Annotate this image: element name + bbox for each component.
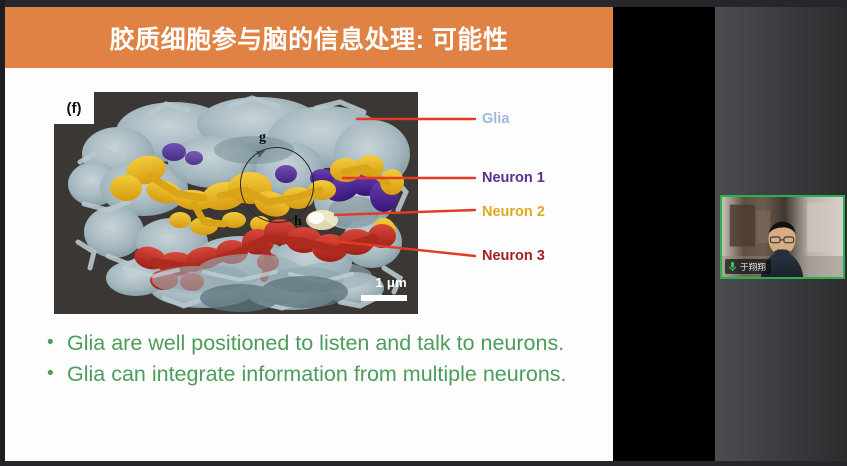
figure-tag-g: g: [259, 130, 266, 146]
callout-label-neuron-1: Neuron 1: [482, 170, 545, 186]
slide-bullet-list: • Glia are well positioned to listen and…: [47, 329, 587, 390]
bottom-letterbox-strip: [0, 461, 847, 466]
letterbox-black-area: [613, 7, 715, 461]
participant-video-tile[interactable]: 于翔翔: [720, 195, 845, 279]
bullet-dot-icon: •: [47, 360, 67, 389]
callout-label-glia: Glia: [482, 111, 509, 127]
scale-bar: [361, 295, 407, 301]
list-item: • Glia are well positioned to listen and…: [47, 329, 587, 358]
list-item: • Glia can integrate information from mu…: [47, 360, 587, 389]
scale-bar-label: 1 μm: [375, 275, 407, 290]
bullet-text: Glia are well positioned to listen and t…: [67, 329, 587, 358]
em-reconstruction-figure: (f) g h 1 μm: [54, 92, 418, 314]
bullet-text: Glia can integrate information from mult…: [67, 360, 587, 389]
figure-panel-label: (f): [54, 92, 94, 124]
participant-name-badge: 于翔翔: [725, 259, 771, 274]
top-letterbox-strip: [0, 0, 847, 7]
meeting-screen-share-window: 胶质细胞参与脑的信息处理: 可能性: [0, 0, 847, 466]
presentation-slide: 胶质细胞参与脑的信息处理: 可能性: [5, 7, 613, 461]
em-reconstruction-image: [54, 92, 418, 314]
microphone-icon: [728, 261, 737, 272]
callout-label-neuron-2: Neuron 2: [482, 204, 545, 220]
participant-name: 于翔翔: [740, 261, 766, 273]
bullet-dot-icon: •: [47, 329, 67, 358]
callout-label-neuron-3: Neuron 3: [482, 248, 545, 264]
slide-title: 胶质细胞参与脑的信息处理: 可能性: [5, 7, 613, 68]
figure-tag-h: h: [294, 214, 302, 230]
